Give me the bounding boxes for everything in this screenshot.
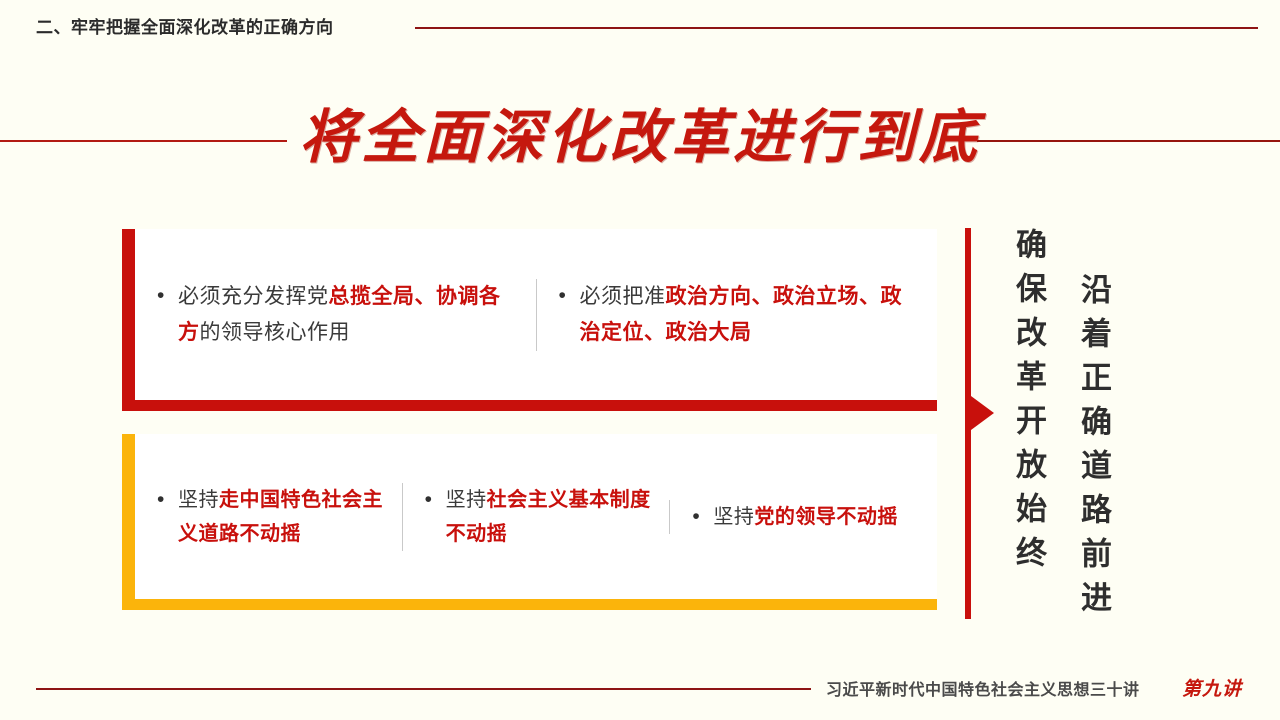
text-plain: 坚持 xyxy=(178,489,219,511)
card-two-item-2: • 坚持社会主义基本制度不动摇 xyxy=(402,483,670,551)
text-plain: 坚持 xyxy=(446,489,487,511)
card-two-item-3-text: 坚持党的领导不动摇 xyxy=(713,500,898,534)
card-two-item-3: • 坚持党的领导不动摇 xyxy=(669,500,937,534)
footer-divider-line xyxy=(36,688,811,690)
bullet-icon: • xyxy=(559,279,569,312)
content-card-two: • 坚持走中国特色社会主义道路不动摇 • 坚持社会主义基本制度不动摇 • 坚持党… xyxy=(122,434,937,610)
card-two-accent-left xyxy=(122,434,135,610)
page-title: 将全面深化改革进行到底 xyxy=(0,95,1280,179)
card-one-item-2: • 必须把准政治方向、政治立场、政治定位、政治大局 xyxy=(536,279,938,351)
bullet-icon: • xyxy=(692,500,702,533)
text-plain: 坚持 xyxy=(713,506,754,528)
footer-series-title: 习近平新时代中国特色社会主义思想三十讲 xyxy=(826,676,1140,700)
callout-column-two: 沿着正确道路前进 xyxy=(1078,273,1109,625)
bullet-icon: • xyxy=(157,483,167,516)
card-one-item-2-text: 必须把准政治方向、政治立场、政治定位、政治大局 xyxy=(580,279,924,351)
card-one-accent-bottom xyxy=(122,400,937,411)
card-two-body: • 坚持走中国特色社会主义道路不动摇 • 坚持社会主义基本制度不动摇 • 坚持党… xyxy=(135,434,937,599)
card-two-item-1: • 坚持走中国特色社会主义道路不动摇 xyxy=(135,483,402,551)
text-plain: 的领导核心作用 xyxy=(200,321,351,344)
text-plain: 必须充分发挥党 xyxy=(178,285,329,308)
card-one-accent-left xyxy=(122,229,135,411)
slide-header: 二、牢牢把握全面深化改革的正确方向 xyxy=(0,0,1280,55)
vertical-callout xyxy=(955,228,1155,628)
card-one-item-1: • 必须充分发挥党总揽全局、协调各方的领导核心作用 xyxy=(135,279,536,351)
header-divider-line xyxy=(415,27,1258,29)
arrow-right-icon xyxy=(971,396,994,430)
card-two-accent-bottom xyxy=(122,599,937,610)
card-one-item-1-text: 必须充分发挥党总揽全局、协调各方的领导核心作用 xyxy=(178,279,522,351)
slide-footer: 习近平新时代中国特色社会主义思想三十讲 第九讲 xyxy=(0,672,1280,720)
content-card-one: • 必须充分发挥党总揽全局、协调各方的领导核心作用 • 必须把准政治方向、政治立… xyxy=(122,229,937,411)
section-label: 二、牢牢把握全面深化改革的正确方向 xyxy=(36,13,334,38)
card-two-item-1-text: 坚持走中国特色社会主义道路不动摇 xyxy=(178,483,388,551)
footer-lecture-badge: 第九讲 xyxy=(1182,674,1242,701)
callout-column-one: 确保改革开放始终 xyxy=(1013,228,1044,580)
card-two-item-2-text: 坚持社会主义基本制度不动摇 xyxy=(446,483,656,551)
card-one-body: • 必须充分发挥党总揽全局、协调各方的领导核心作用 • 必须把准政治方向、政治立… xyxy=(135,229,937,400)
title-band: 将全面深化改革进行到底 xyxy=(0,95,1280,190)
text-emphasis: 党的领导不动摇 xyxy=(754,506,898,528)
text-plain: 必须把准 xyxy=(580,285,666,308)
bullet-icon: • xyxy=(157,279,167,312)
bullet-icon: • xyxy=(425,483,435,516)
